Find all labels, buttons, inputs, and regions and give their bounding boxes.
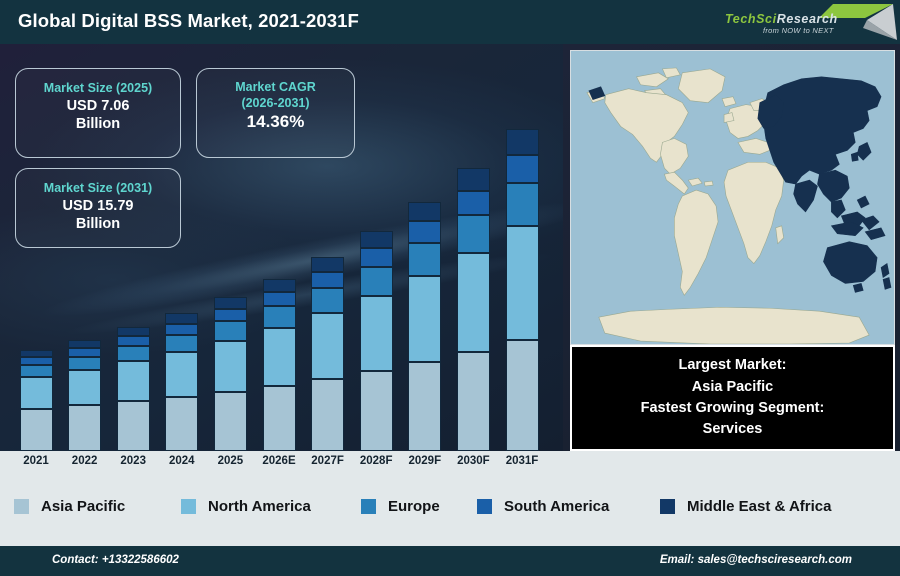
x-axis-label-2021: 2021 [8,455,64,467]
bar-segment-middle-east-africa [263,279,296,292]
bar-segment-middle-east-africa [68,340,101,348]
bar-segment-north-america [68,370,101,405]
kpi-market-size-2031: Market Size (2031) USD 15.79 Billion [15,168,181,248]
x-axis-label-2023: 2023 [105,455,161,467]
bar-segment-south-america [408,221,441,242]
bar-segment-north-america [506,226,539,340]
bar-segment-europe [457,215,490,253]
infographic-page: Global Digital BSS Market, 2021-2031F Te… [0,0,900,576]
bar-segment-europe [263,306,296,328]
legend-swatch-icon [660,499,675,514]
page-title: Global Digital BSS Market, 2021-2031F [18,10,359,32]
bar-segment-south-america [457,191,490,215]
legend-item-europe[interactable]: Europe [361,498,440,515]
bar-segment-north-america [263,328,296,386]
world-map [570,50,895,345]
bar-segment-middle-east-africa [360,231,393,248]
x-axis-label-2029F: 2029F [397,455,453,467]
bar-2027F [311,257,344,451]
x-axis-label-2022: 2022 [57,455,113,467]
bar-2026E [263,279,296,451]
bar-segment-north-america [165,352,198,397]
bar-segment-north-america [360,296,393,371]
legend-label: South America [504,498,609,515]
bar-segment-south-america [506,155,539,183]
kpi-value-line1: USD 15.79 [16,197,180,216]
bar-segment-middle-east-africa [117,327,150,336]
legend-swatch-icon [14,499,29,514]
bar-segment-europe [408,243,441,276]
bar-2031F [506,129,539,451]
kpi-market-cagr: Market CAGR (2026-2031) 14.36% [196,68,355,158]
bar-segment-asia-pacific [165,397,198,451]
bar-segment-middle-east-africa [457,168,490,190]
x-axis-labels: 202120222023202420252026E2027F2028F2029F… [0,455,563,477]
bar-segment-europe [214,321,247,340]
bar-segment-asia-pacific [457,352,490,451]
logo-brand-second: Research [777,12,838,26]
x-axis-label-2027F: 2027F [300,455,356,467]
kpi-label: Market CAGR [197,80,354,96]
x-axis-label-2031F: 2031F [494,455,550,467]
bar-segment-europe [506,183,539,226]
legend-label: Middle East & Africa [687,498,831,515]
legend-swatch-icon [477,499,492,514]
bar-segment-middle-east-africa [311,257,344,272]
bar-segment-south-america [311,272,344,288]
legend-item-north-america[interactable]: North America [181,498,311,515]
kpi-value-line1: USD 7.06 [16,97,180,116]
legend-label: North America [208,498,311,515]
bar-segment-europe [165,335,198,352]
bar-segment-asia-pacific [311,379,344,451]
bar-2028F [360,231,393,451]
bar-segment-middle-east-africa [20,350,53,357]
x-axis-label-2030F: 2030F [445,455,501,467]
callout-largest-market-label: Largest Market: [679,355,787,376]
logo-tagline: from NOW to NEXT [763,26,834,35]
bar-2030F [457,168,490,451]
bar-segment-middle-east-africa [214,297,247,309]
bar-segment-europe [68,357,101,370]
bar-segment-middle-east-africa [408,202,441,222]
kpi-label: Market Size (2031) [16,181,180,197]
bar-segment-asia-pacific [263,386,296,451]
x-axis-label-2026E: 2026E [251,455,307,467]
callout-largest-market-value: Asia Pacific [692,377,773,398]
bar-segment-asia-pacific [214,392,247,451]
bar-2023 [117,327,150,451]
kpi-label: Market Size (2025) [16,81,180,97]
bar-segment-north-america [311,313,344,379]
bar-segment-europe [311,288,344,313]
legend-item-middle-east-africa[interactable]: Middle East & Africa [660,498,831,515]
legend-item-south-america[interactable]: South America [477,498,609,515]
bar-2024 [165,313,198,451]
bar-segment-north-america [408,276,441,362]
legend-label: Asia Pacific [41,498,125,515]
kpi-value-line1: 14.36% [197,111,354,133]
chart-legend: Asia PacificNorth AmericaEuropeSouth Ame… [0,486,900,532]
x-axis-label-2024: 2024 [154,455,210,467]
legend-item-asia-pacific[interactable]: Asia Pacific [14,498,125,515]
bar-segment-europe [117,346,150,361]
footer-contact[interactable]: Contact: +13322586602 [52,554,179,566]
logo-wordmark: TechSciResearch [725,12,838,26]
bar-segment-asia-pacific [68,405,101,451]
bar-segment-asia-pacific [408,362,441,451]
header-bar: Global Digital BSS Market, 2021-2031F Te… [0,0,900,44]
x-axis-label-2025: 2025 [202,455,258,467]
bar-segment-south-america [20,357,53,365]
bar-segment-south-america [117,336,150,346]
bar-segment-asia-pacific [117,401,150,451]
bar-segment-asia-pacific [20,409,53,451]
bar-segment-south-america [263,292,296,306]
x-axis-label-2028F: 2028F [348,455,404,467]
kpi-label-period: (2026-2031) [197,96,354,112]
bar-segment-north-america [117,361,150,401]
bar-segment-north-america [20,377,53,409]
bar-segment-south-america [214,309,247,322]
kpi-market-size-2025: Market Size (2025) USD 7.06 Billion [15,68,181,158]
bar-segment-middle-east-africa [165,313,198,323]
bar-segment-asia-pacific [360,371,393,451]
bar-segment-middle-east-africa [506,129,539,155]
footer-email[interactable]: Email: sales@techsciresearch.com [660,554,852,566]
kpi-value-line2: Billion [16,215,180,234]
bar-segment-north-america [457,253,490,352]
market-callout-box: Largest Market: Asia Pacific Fastest Gro… [570,345,895,451]
logo-brand-first: TechSci [725,12,777,26]
bar-segment-europe [360,267,393,296]
techsci-logo[interactable]: TechSciResearch from NOW to NEXT [715,0,900,44]
bar-2029F [408,202,441,451]
world-map-svg [571,51,894,344]
bar-segment-south-america [68,348,101,357]
bar-2022 [68,340,101,451]
kpi-value-line2: Billion [16,115,180,134]
bar-segment-north-america [214,341,247,392]
legend-swatch-icon [181,499,196,514]
bar-2021 [20,350,53,451]
footer-bar: Contact: +13322586602 Email: sales@techs… [0,546,900,576]
legend-label: Europe [388,498,440,515]
bar-segment-europe [20,365,53,377]
callout-fastest-segment-label: Fastest Growing Segment: [641,398,825,419]
callout-fastest-segment-value: Services [703,419,763,440]
bar-segment-south-america [360,248,393,267]
bar-segment-south-america [165,324,198,335]
legend-swatch-icon [361,499,376,514]
bar-2025 [214,297,247,451]
bar-segment-asia-pacific [506,340,539,451]
